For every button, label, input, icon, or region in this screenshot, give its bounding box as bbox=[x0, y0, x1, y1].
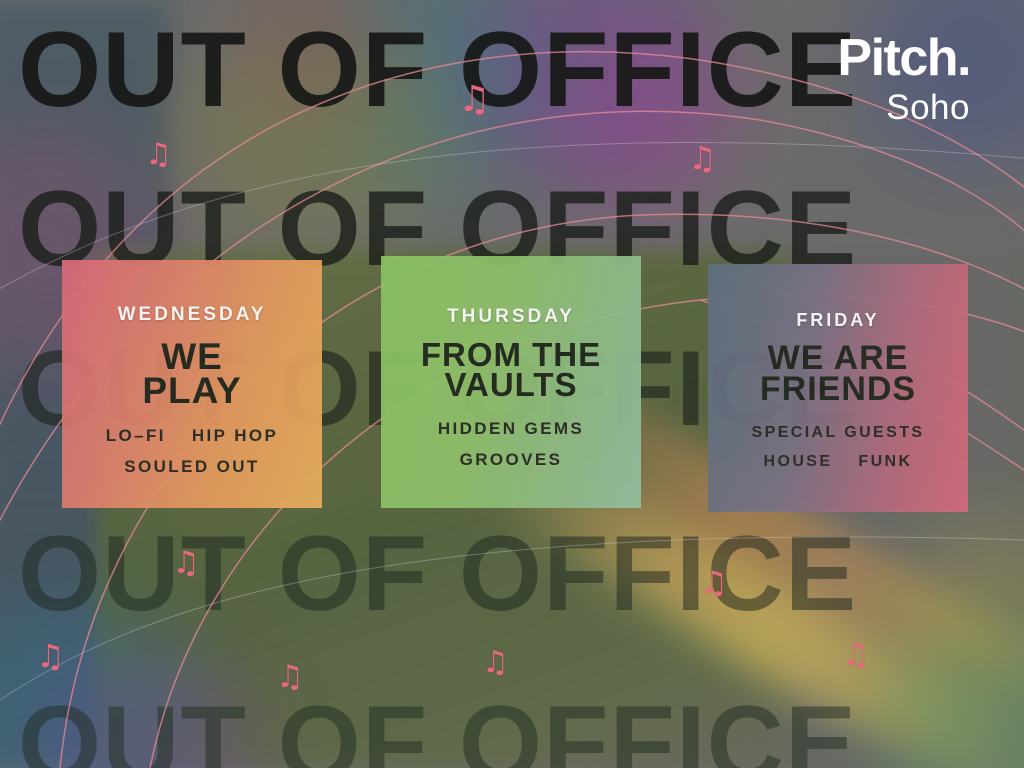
card-tag: FUNK bbox=[858, 453, 912, 471]
card-title: FROM THE VAULTS bbox=[421, 340, 601, 401]
card-title-line: VAULTS bbox=[421, 370, 601, 400]
card-day-label: FRIDAY bbox=[796, 310, 879, 331]
card-tags-row: LO–FI HIP HOP bbox=[106, 426, 279, 446]
card-tags-row: HIDDEN GEMS bbox=[438, 419, 584, 439]
card-tag: GROOVES bbox=[460, 450, 563, 470]
day-card-friday[interactable]: FRIDAY WE ARE FRIENDS SPECIAL GUESTS HOU… bbox=[708, 264, 968, 512]
card-tag: SPECIAL GUESTS bbox=[752, 424, 925, 442]
card-title: WE ARE FRIENDS bbox=[760, 343, 916, 406]
card-day-label: THURSDAY bbox=[447, 306, 575, 328]
card-tags-row: GROOVES bbox=[460, 450, 563, 470]
card-tags-row: SPECIAL GUESTS bbox=[752, 424, 925, 442]
card-tag: HIDDEN GEMS bbox=[438, 419, 584, 439]
day-card-thursday[interactable]: THURSDAY FROM THE VAULTS HIDDEN GEMS GRO… bbox=[381, 256, 641, 508]
tag-spacer bbox=[166, 426, 192, 446]
card-tag: HIP HOP bbox=[192, 426, 278, 446]
tag-spacer bbox=[832, 453, 858, 471]
card-title-line: WE bbox=[142, 340, 241, 374]
day-card-wednesday[interactable]: WEDNESDAY WE PLAY LO–FI HIP HOP SOULED O… bbox=[62, 260, 322, 508]
card-tags-row: SOULED OUT bbox=[124, 457, 259, 477]
card-title-line: PLAY bbox=[142, 374, 241, 408]
brand-lockup: Pitch. Soho bbox=[837, 34, 970, 128]
card-tag: SOULED OUT bbox=[124, 457, 259, 477]
card-title: WE PLAY bbox=[142, 340, 241, 408]
card-tag: LO–FI bbox=[106, 426, 166, 446]
brand-location: Soho bbox=[837, 88, 970, 128]
poster-canvas: OUT OF OFFICE OUT OF OFFICE OUT OF OFFIC… bbox=[0, 0, 1024, 768]
card-tag: HOUSE bbox=[764, 453, 833, 471]
card-tags-row: HOUSE FUNK bbox=[764, 453, 913, 471]
card-title-line: FRIENDS bbox=[760, 374, 916, 405]
card-day-label: WEDNESDAY bbox=[118, 304, 267, 326]
brand-name: Pitch. bbox=[837, 34, 970, 84]
